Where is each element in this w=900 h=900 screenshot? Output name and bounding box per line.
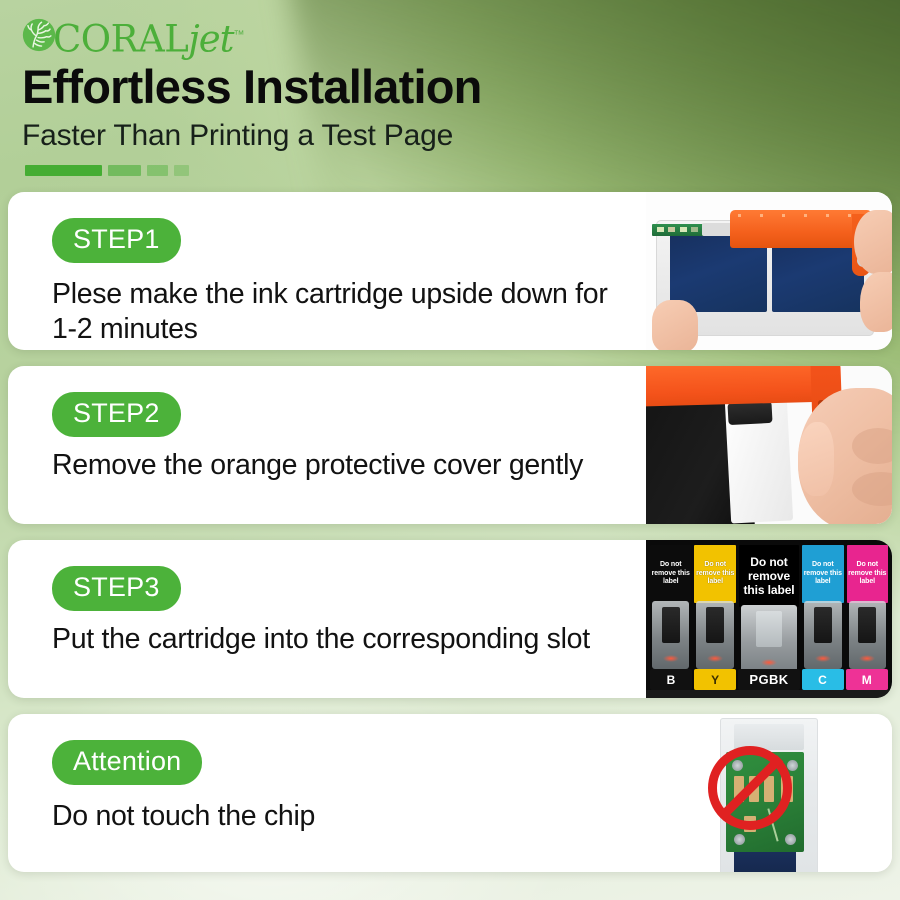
cartridge-slot-pgbk: Do not remove this label: [739, 545, 799, 671]
tank-y: [696, 601, 733, 669]
thumb: [798, 422, 834, 496]
progress-tick-4: [174, 165, 189, 176]
label-b: Do not remove this label: [650, 545, 691, 603]
cartridge-cap: [727, 401, 772, 425]
step-1-description: Plese make the ink cartridge upside down…: [52, 277, 628, 347]
step-1-text-column: STEP1 Plese make the ink cartridge upsid…: [8, 192, 646, 350]
label-m: Do not remove this label: [847, 545, 888, 603]
tank-b: [652, 601, 689, 669]
progress-tick-1: [25, 165, 102, 176]
coral-tree-circle-icon: [22, 18, 56, 52]
printer-bottom-bar: [646, 690, 892, 698]
step-3-badge: STEP3: [52, 566, 181, 611]
step-2-badge: STEP2: [52, 392, 181, 437]
trademark-symbol: ™: [234, 29, 245, 41]
progress-tick-3: [147, 165, 168, 176]
finger-upper-right: [854, 210, 892, 274]
step-2-image: [646, 366, 892, 524]
page-header: CORALjet™ Effortless Installation Faster…: [22, 14, 722, 176]
cartridge-slot-c: Do not remove this label: [802, 545, 843, 671]
knuckle-upper: [852, 428, 892, 464]
tank-c: [804, 601, 841, 669]
step-3-text-column: STEP3 Put the cartridge into the corresp…: [8, 540, 646, 698]
attention-image: [646, 714, 892, 872]
color-code-y: Y: [694, 669, 736, 690]
label-c: Do not remove this label: [802, 545, 843, 603]
knuckle-lower: [852, 472, 892, 506]
progress-tick-2: [108, 165, 141, 176]
cartridge-chip: [652, 224, 704, 236]
page-root: CORALjet™ Effortless Installation Faster…: [0, 0, 900, 900]
step-2-description: Remove the orange protective cover gentl…: [52, 450, 628, 481]
brand-wordmark: CORALjet™: [53, 14, 245, 60]
cartridge-slot-row: Do not remove this label Do not remove t…: [646, 540, 892, 672]
step-card-3: STEP3 Put the cartridge into the corresp…: [8, 540, 892, 698]
color-code-m: M: [846, 669, 888, 690]
tank-m: [849, 601, 886, 669]
attention-text-column: Attention Do not touch the chip: [8, 714, 646, 872]
prohibition-icon: [708, 746, 792, 830]
step-card-1: STEP1 Plese make the ink cartridge upsid…: [8, 192, 892, 350]
steps-list: STEP1 Plese make the ink cartridge upsid…: [8, 192, 892, 872]
color-code-b: B: [650, 669, 692, 690]
tank-pgbk: [741, 605, 797, 673]
brand-name-secondary: jet: [188, 17, 233, 60]
attention-description: Do not touch the chip: [52, 799, 628, 834]
cartridge-slot-y: Do not remove this label: [694, 545, 735, 671]
color-code-c: C: [802, 669, 844, 690]
page-subtitle: Faster Than Printing a Test Page: [22, 117, 722, 155]
step-card-2: STEP2 Remove the orange protective cover…: [8, 366, 892, 524]
page-title: Effortless Installation: [22, 60, 722, 114]
attention-badge: Attention: [52, 740, 202, 785]
orange-clip: [730, 210, 872, 248]
progress-ticks: [25, 165, 722, 176]
step-1-image: [646, 192, 892, 350]
finger-lower-right: [860, 272, 892, 332]
label-pgbk: Do not remove this label: [739, 545, 799, 607]
orange-protective-cover: [646, 366, 837, 407]
color-code-pgbk: PGBK: [738, 669, 799, 690]
label-y: Do not remove this label: [694, 545, 735, 603]
brand-logo: CORALjet™: [22, 14, 722, 58]
step-3-description: Put the cartridge into the corresponding…: [52, 624, 628, 655]
finger-lower-left: [652, 300, 698, 350]
step-2-text-column: STEP2 Remove the orange protective cover…: [8, 366, 646, 524]
step-card-attention: Attention Do not touch the chip: [8, 714, 892, 872]
color-code-strip: B Y PGBK C M: [646, 669, 892, 690]
cartridge-slot-m: Do not remove this label: [847, 545, 888, 671]
brand-name-primary: CORAL: [53, 17, 188, 60]
step-1-badge: STEP1: [52, 218, 181, 263]
step-3-image: Do not remove this label Do not remove t…: [646, 540, 892, 698]
cartridge-slot-b: Do not remove this label: [650, 545, 691, 671]
